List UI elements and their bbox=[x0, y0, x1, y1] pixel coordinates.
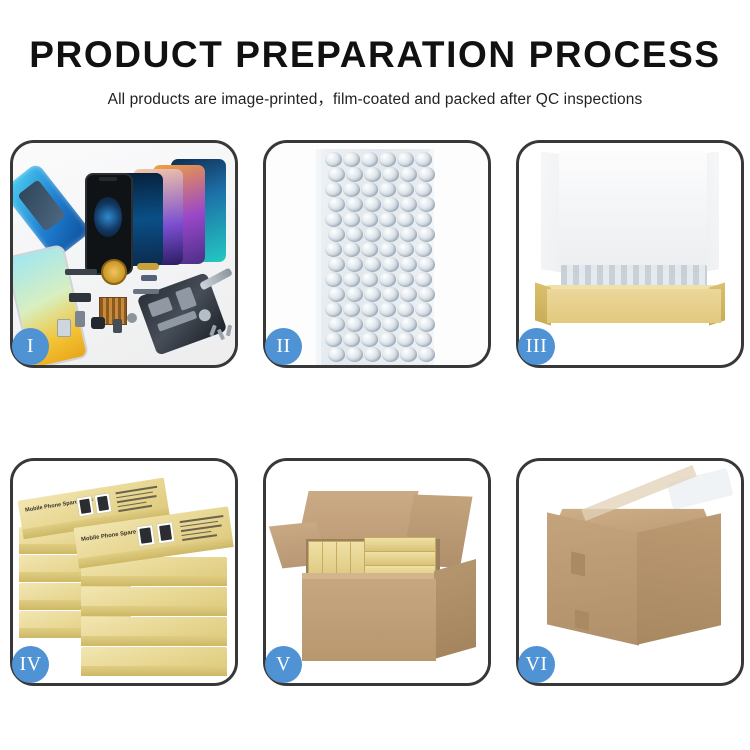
carton-left-face bbox=[547, 512, 639, 645]
bubble-cell bbox=[418, 317, 435, 332]
bubble-cell bbox=[400, 257, 417, 272]
bubble-cell bbox=[328, 317, 345, 332]
step-3-image bbox=[519, 143, 741, 365]
step-badge-5: V bbox=[265, 646, 302, 683]
bubble-cell bbox=[415, 182, 432, 197]
bubble-cell bbox=[379, 212, 396, 227]
bubble-cell bbox=[400, 227, 417, 242]
earpiece-speaker-part bbox=[65, 269, 97, 275]
bubble-cell bbox=[346, 257, 363, 272]
bubble-cell bbox=[346, 347, 363, 362]
bubble-cell bbox=[343, 212, 360, 227]
header: PRODUCT PREPARATION PROCESS All products… bbox=[0, 0, 750, 109]
process-grid: I II III Mobile Phone Spare Parts bbox=[0, 140, 750, 690]
bubble-cell bbox=[364, 167, 381, 182]
bubble-cell bbox=[418, 167, 435, 182]
bubble-cell bbox=[343, 242, 360, 257]
process-row-top: I II III bbox=[0, 140, 750, 372]
box-back-panel bbox=[559, 151, 707, 269]
bubble-cell bbox=[346, 287, 363, 302]
bubble-cell bbox=[325, 332, 342, 347]
bubble-cell bbox=[328, 227, 345, 242]
stacked-box bbox=[81, 647, 227, 667]
bubble-cell bbox=[325, 212, 342, 227]
page-subtitle: All products are image-printed，film-coat… bbox=[0, 87, 750, 109]
box-window-image bbox=[156, 521, 176, 544]
bubble-cell bbox=[364, 227, 381, 242]
flex-cable-part bbox=[137, 263, 159, 270]
carton-seal-tab bbox=[575, 609, 589, 630]
bubble-cell bbox=[418, 197, 435, 212]
bubble-cell bbox=[382, 257, 399, 272]
stacked-box bbox=[81, 617, 227, 637]
bubble-cell bbox=[415, 302, 432, 317]
bubble-cell bbox=[325, 182, 342, 197]
bubble-cell bbox=[397, 302, 414, 317]
bubble-cell bbox=[400, 347, 417, 362]
process-row-bottom: Mobile Phone Spare Parts bbox=[0, 458, 750, 690]
page-title: PRODUCT PREPARATION PROCESS bbox=[0, 36, 750, 73]
step-2-image bbox=[266, 143, 488, 365]
bubble-cell bbox=[346, 227, 363, 242]
bubble-cell bbox=[418, 287, 435, 302]
bubble-cell bbox=[382, 167, 399, 182]
step-badge-1: I bbox=[12, 328, 49, 365]
bubble-cell bbox=[418, 347, 435, 362]
carton-right-face bbox=[637, 513, 721, 644]
bubble-cell bbox=[382, 197, 399, 212]
bubble-cell bbox=[379, 182, 396, 197]
charging-port-part bbox=[91, 317, 105, 329]
bubble-cell bbox=[382, 317, 399, 332]
bubble-cell bbox=[328, 257, 345, 272]
step-badge-3: III bbox=[518, 328, 555, 365]
bubble-cell bbox=[361, 152, 378, 167]
bubble-cell bbox=[397, 212, 414, 227]
stacked-box bbox=[81, 587, 227, 607]
box-window-image bbox=[76, 495, 95, 517]
bubble-cell bbox=[364, 317, 381, 332]
bubble-cell bbox=[343, 332, 360, 347]
step-1-image bbox=[13, 143, 235, 365]
camera-module-part bbox=[69, 293, 91, 302]
small-connector-part bbox=[141, 275, 157, 281]
step-5-image bbox=[266, 461, 488, 683]
bubble-cell bbox=[325, 152, 342, 167]
packed-box bbox=[364, 551, 436, 566]
bubble-cell bbox=[415, 212, 432, 227]
bubble-cell bbox=[328, 197, 345, 212]
carton-side-face bbox=[434, 559, 476, 659]
button-flex-part bbox=[113, 319, 122, 333]
bubble-cell bbox=[418, 257, 435, 272]
box-front-face bbox=[547, 289, 721, 323]
bubble-cell bbox=[343, 152, 360, 167]
bubble-cell bbox=[400, 317, 417, 332]
bubble-cell bbox=[397, 332, 414, 347]
bubble-cell bbox=[328, 287, 345, 302]
bubble-cell bbox=[379, 272, 396, 287]
bubble-cell bbox=[364, 347, 381, 362]
bubble-cell bbox=[325, 242, 342, 257]
bubble-cell bbox=[415, 332, 432, 347]
bubble-cell bbox=[364, 287, 381, 302]
bubble-cell bbox=[346, 197, 363, 212]
bubble-cell bbox=[361, 242, 378, 257]
vibration-motor bbox=[101, 259, 127, 285]
bubble-cell bbox=[379, 242, 396, 257]
bubble-cell bbox=[400, 197, 417, 212]
bubble-cell bbox=[379, 302, 396, 317]
box-stack: Mobile Phone Spare Parts bbox=[17, 471, 235, 679]
step-badge-2: II bbox=[265, 328, 302, 365]
antenna-part bbox=[133, 289, 159, 294]
bubble-cell bbox=[346, 317, 363, 332]
carton-seal-tab bbox=[571, 551, 585, 576]
step-badge-4: IV bbox=[12, 646, 49, 683]
bubble-cell bbox=[361, 332, 378, 347]
bubble-cell bbox=[361, 302, 378, 317]
bubble-cell bbox=[397, 182, 414, 197]
bubble-cell bbox=[415, 242, 432, 257]
bubble-cell bbox=[400, 167, 417, 182]
bubble-cell bbox=[379, 152, 396, 167]
sensor-part bbox=[57, 319, 71, 337]
packed-box bbox=[364, 537, 436, 552]
bubble-cell bbox=[400, 287, 417, 302]
bubble-wrap-sleeve bbox=[316, 149, 434, 365]
bubble-cell bbox=[361, 212, 378, 227]
bubble-cell bbox=[328, 347, 345, 362]
bubble-cell bbox=[364, 197, 381, 212]
bubble-cell bbox=[397, 272, 414, 287]
bubble-cell bbox=[343, 182, 360, 197]
bubble-cell bbox=[415, 152, 432, 167]
step-6-image bbox=[519, 461, 741, 683]
bubble-cell bbox=[382, 287, 399, 302]
step-badge-6: VI bbox=[518, 646, 555, 683]
bubble-cell bbox=[364, 257, 381, 272]
bubble-cell bbox=[361, 182, 378, 197]
carton-front-face bbox=[302, 579, 436, 661]
bubble-cell bbox=[343, 302, 360, 317]
bubble-cell bbox=[379, 332, 396, 347]
bubble-cell bbox=[343, 272, 360, 287]
bubble-cell bbox=[382, 347, 399, 362]
bubble-cell bbox=[397, 152, 414, 167]
bubble-cell bbox=[418, 227, 435, 242]
bubble-cell bbox=[415, 272, 432, 287]
bubble-cell bbox=[361, 272, 378, 287]
bubble-cell bbox=[382, 227, 399, 242]
bubble-cell bbox=[325, 272, 342, 287]
bubble-cell bbox=[328, 167, 345, 182]
step-4-image: Mobile Phone Spare Parts bbox=[13, 461, 235, 683]
bubble-cell bbox=[346, 167, 363, 182]
box-window-image bbox=[136, 524, 156, 547]
box-window-image bbox=[94, 492, 113, 514]
bubble-cell bbox=[325, 302, 342, 317]
home-button-part bbox=[127, 313, 137, 323]
bubble-cell bbox=[397, 242, 414, 257]
sim-tray-part bbox=[75, 311, 85, 327]
